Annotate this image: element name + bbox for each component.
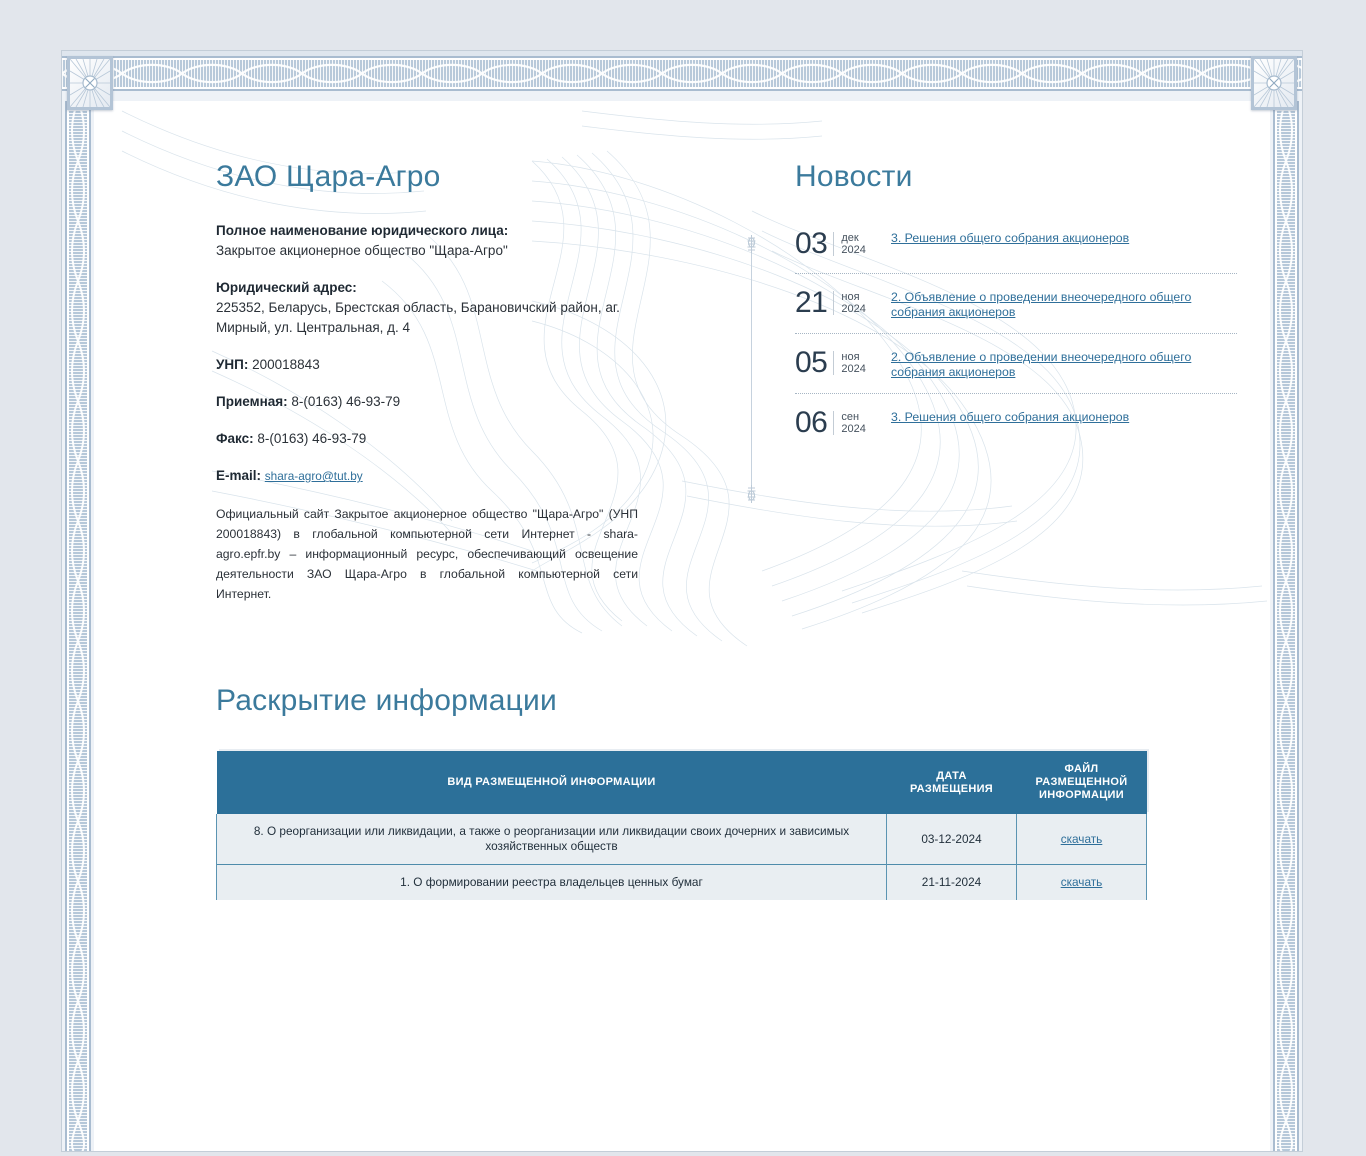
ornament-cap-icon bbox=[746, 235, 757, 503]
disclosure-section: Раскрытие информации ВИД РАЗМЕЩЕННОЙ ИНФ… bbox=[216, 684, 1148, 900]
cell-kind: 1. О формировании реестра владельцев цен… bbox=[217, 865, 887, 901]
news-day: 03 bbox=[795, 229, 827, 259]
news-link[interactable]: 3. Решения общего собрания акционеров bbox=[891, 407, 1237, 425]
info-value: 200018843 bbox=[252, 357, 320, 372]
info-field-reception: Приемная: 8-(0163) 46-93-79 bbox=[216, 392, 638, 412]
list-item[interactable]: 21 ноя 2024 2. Объявление о проведении в… bbox=[795, 273, 1237, 333]
news-month-year: ноя 2024 bbox=[841, 351, 865, 376]
news-month-year: дек 2024 bbox=[841, 232, 865, 257]
info-value: 225352, Беларусь, Брестская область, Бар… bbox=[216, 298, 638, 338]
table-row: 1. О формировании реестра владельцев цен… bbox=[217, 865, 1147, 901]
download-link[interactable]: скачать bbox=[1061, 832, 1103, 846]
info-label: Юридический адрес: bbox=[216, 278, 638, 298]
site-description: Официальный сайт Закрытое акционерное об… bbox=[216, 504, 638, 604]
rosette-seal-icon bbox=[67, 56, 113, 110]
news-link[interactable]: 3. Решения общего собрания акционеров bbox=[891, 228, 1237, 246]
divider bbox=[833, 411, 834, 435]
info-label: УНП: bbox=[216, 357, 248, 372]
news-date: 06 сен 2024 bbox=[795, 407, 891, 438]
news-year: 2024 bbox=[841, 423, 865, 435]
cell-kind: 8. О реорганизации или ликвидации, а так… bbox=[217, 814, 887, 865]
info-field-email: E-mail: shara-agro@tut.by bbox=[216, 466, 638, 486]
cell-file: скачать bbox=[1017, 865, 1147, 901]
news-list: 03 дек 2024 3. Решения общего собрания а… bbox=[795, 220, 1237, 452]
cell-date: 21-11-2024 bbox=[887, 865, 1017, 901]
news-column: Новости 03 дек 2024 3. Решения общего со… bbox=[795, 160, 1237, 452]
list-item[interactable]: 03 дек 2024 3. Решения общего собрания а… bbox=[795, 220, 1237, 273]
news-month-year: сен 2024 bbox=[841, 411, 865, 436]
email-link[interactable]: shara-agro@tut.by bbox=[265, 469, 363, 483]
info-value: 8-(0163) 46-93-79 bbox=[257, 431, 366, 446]
info-label: E-mail: bbox=[216, 468, 261, 483]
divider bbox=[833, 351, 834, 375]
info-label: Факс: bbox=[216, 431, 254, 446]
news-day: 05 bbox=[795, 348, 827, 378]
list-item[interactable]: 06 сен 2024 3. Решения общего собрания а… bbox=[795, 393, 1237, 452]
disclosure-title: Раскрытие информации bbox=[216, 684, 1148, 718]
download-link[interactable]: скачать bbox=[1061, 875, 1103, 889]
company-info-column: ЗАО Щара-Агро Полное наименование юридич… bbox=[216, 160, 638, 604]
news-day: 21 bbox=[795, 288, 827, 318]
news-title: Новости bbox=[795, 160, 1237, 194]
table-body: 8. О реорганизации или ликвидации, а так… bbox=[217, 814, 1147, 900]
list-item[interactable]: 05 ноя 2024 2. Объявление о проведении в… bbox=[795, 333, 1237, 393]
news-date: 05 ноя 2024 bbox=[795, 347, 891, 378]
info-field-full-name: Полное наименование юридического лица: З… bbox=[216, 221, 638, 261]
disclosure-table: ВИД РАЗМЕЩЕННОЙ ИНФОРМАЦИИ ДАТА РАЗМЕЩЕН… bbox=[216, 751, 1147, 900]
news-link[interactable]: 2. Объявление о проведении внеочередного… bbox=[891, 287, 1237, 319]
news-date: 03 дек 2024 bbox=[795, 228, 891, 259]
info-label: Полное наименование юридического лица: bbox=[216, 221, 638, 241]
info-field-unp: УНП: 200018843 bbox=[216, 355, 638, 375]
divider bbox=[833, 291, 834, 315]
page-content: ЗАО Щара-Агро Полное наименование юридич… bbox=[216, 160, 1148, 900]
cell-file: скачать bbox=[1017, 814, 1147, 865]
news-month: ноя bbox=[841, 351, 859, 363]
page-title: ЗАО Щара-Агро bbox=[216, 160, 638, 194]
info-field-fax: Факс: 8-(0163) 46-93-79 bbox=[216, 429, 638, 449]
news-year: 2024 bbox=[841, 303, 865, 315]
cell-date: 03-12-2024 bbox=[887, 814, 1017, 865]
rosette-seal-icon bbox=[1251, 56, 1297, 110]
news-year: 2024 bbox=[841, 244, 865, 256]
certificate-frame: ЗАО Щара-Агро Полное наименование юридич… bbox=[62, 51, 1302, 1151]
info-value: Закрытое акционерное общество "Щара-Агро… bbox=[216, 241, 638, 261]
column-header-file: ФАЙЛ РАЗМЕЩЕННОЙ ИНФОРМАЦИИ bbox=[1017, 751, 1147, 814]
column-header-kind: ВИД РАЗМЕЩЕННОЙ ИНФОРМАЦИИ bbox=[217, 751, 887, 814]
info-field-legal-address: Юридический адрес: 225352, Беларусь, Бре… bbox=[216, 278, 638, 338]
info-label: Приемная: bbox=[216, 394, 288, 409]
news-link[interactable]: 2. Объявление о проведении внеочередного… bbox=[891, 347, 1237, 379]
news-month: сен bbox=[841, 411, 859, 423]
border-top-ornament bbox=[62, 51, 1302, 101]
table-row: 8. О реорганизации или ликвидации, а так… bbox=[217, 814, 1147, 865]
news-month: ноя bbox=[841, 291, 859, 303]
news-year: 2024 bbox=[841, 363, 865, 375]
divider bbox=[833, 232, 834, 256]
info-value: 8-(0163) 46-93-79 bbox=[291, 394, 400, 409]
border-right-ornament bbox=[1270, 101, 1302, 1151]
news-month-year: ноя 2024 bbox=[841, 291, 865, 316]
table-header-row: ВИД РАЗМЕЩЕННОЙ ИНФОРМАЦИИ ДАТА РАЗМЕЩЕН… bbox=[217, 751, 1147, 814]
news-day: 06 bbox=[795, 408, 827, 438]
news-date: 21 ноя 2024 bbox=[795, 287, 891, 318]
column-header-date: ДАТА РАЗМЕЩЕНИЯ bbox=[887, 751, 1017, 814]
news-month: дек bbox=[841, 232, 858, 244]
top-two-column-area: ЗАО Щара-Агро Полное наименование юридич… bbox=[216, 160, 1148, 604]
table-header: ВИД РАЗМЕЩЕННОЙ ИНФОРМАЦИИ ДАТА РАЗМЕЩЕН… bbox=[217, 751, 1147, 814]
border-left-ornament bbox=[62, 101, 94, 1151]
